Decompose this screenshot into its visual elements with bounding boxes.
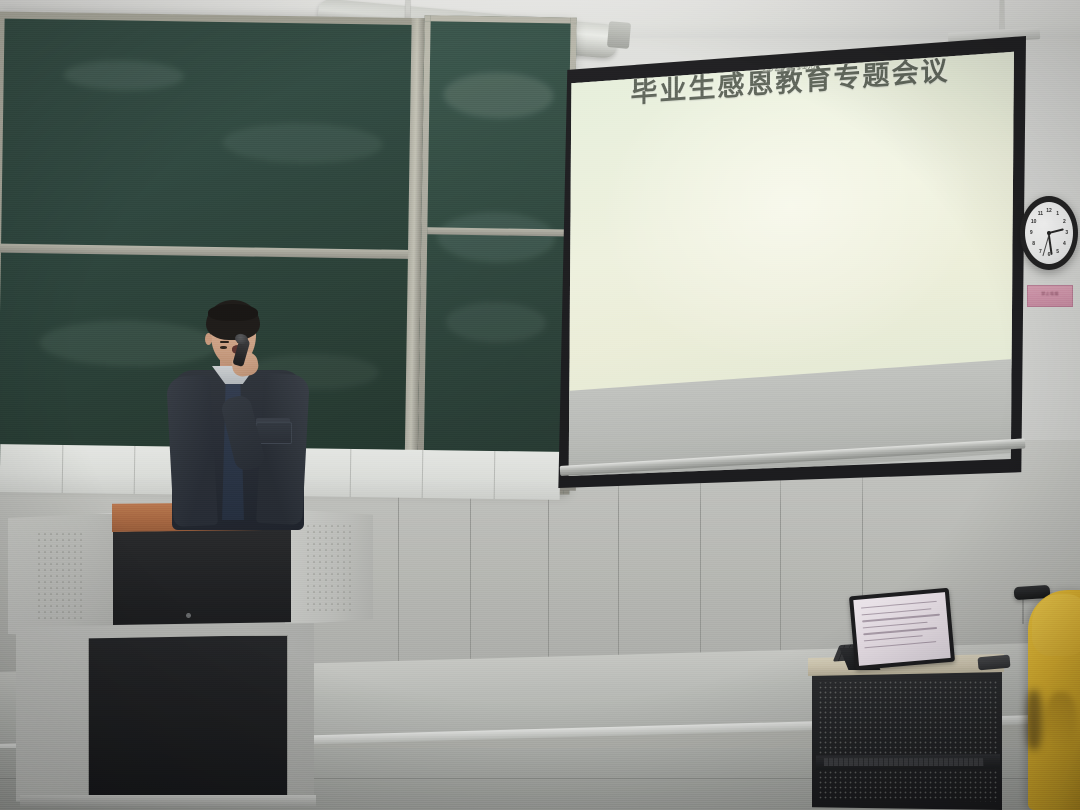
podium-base [20,795,316,807]
clock-numeral: 10 [1031,219,1037,225]
wall-sign: 禁止吸烟 [1027,285,1073,307]
clock-numeral: 2 [1063,219,1066,225]
microphone-stand-stem [1022,598,1024,624]
podium-front-panel [88,635,288,803]
podium-knob-icon [186,613,191,618]
blackboard-sliding-panel [417,15,576,494]
av-control-desk [800,572,1080,810]
clock-numeral: 5 [1056,249,1059,255]
projected-slide: 毕业生感恩教育专题会议 外国语学院 2024年11月 [566,50,1014,399]
clock-numeral: 12 [1046,208,1052,214]
desk-keyboard[interactable] [824,758,984,766]
operator-shadow [1026,690,1042,750]
desk-mesh-panel [818,680,998,802]
lectern-podium [0,495,372,810]
presenter-chest-pocket [256,422,292,444]
speaker-grille-icon [305,523,353,613]
clock-numeral: 11 [1038,211,1043,217]
presenter-hair-fringe [208,304,258,321]
operator-jacket-fold [1046,692,1076,748]
tablet-screen[interactable] [849,588,955,670]
wall-clock: 12 1 2 3 4 5 6 7 8 9 10 11 [1020,196,1078,270]
tablet-document-page [853,592,950,666]
clock-numeral: 3 [1065,230,1068,236]
clock-center-pin [1047,231,1051,235]
clock-numeral: 7 [1039,249,1042,255]
smartphone[interactable] [977,655,1010,671]
clock-numeral: 8 [1032,241,1035,247]
clock-numeral: 9 [1030,230,1033,236]
projection-screen: 毕业生感恩教育专题会议 外国语学院 2024年11月 [556,36,1026,488]
clock-face: 12 1 2 3 4 5 6 7 8 9 10 11 [1025,202,1073,264]
presenter-left-sleeve [166,375,218,527]
screen-surface: 毕业生感恩教育专题会议 外国语学院 2024年11月 [566,50,1014,476]
presenter-right-sleeve [256,373,310,525]
podium-speaker-left [8,513,116,639]
classroom-photo: 毕业生感恩教育专题会议 外国语学院 2024年11月 12 1 2 3 4 5 … [0,0,1080,810]
clock-numeral: 4 [1063,241,1066,247]
speaker-grille-icon [36,531,84,621]
wall-sign-text: 禁止吸烟 [1028,291,1072,297]
operator-hood [1032,594,1080,656]
tablet-device[interactable] [849,588,955,670]
presenter-person [168,300,308,525]
clock-numeral: 1 [1056,211,1059,217]
podium-upper-panel [113,529,291,625]
